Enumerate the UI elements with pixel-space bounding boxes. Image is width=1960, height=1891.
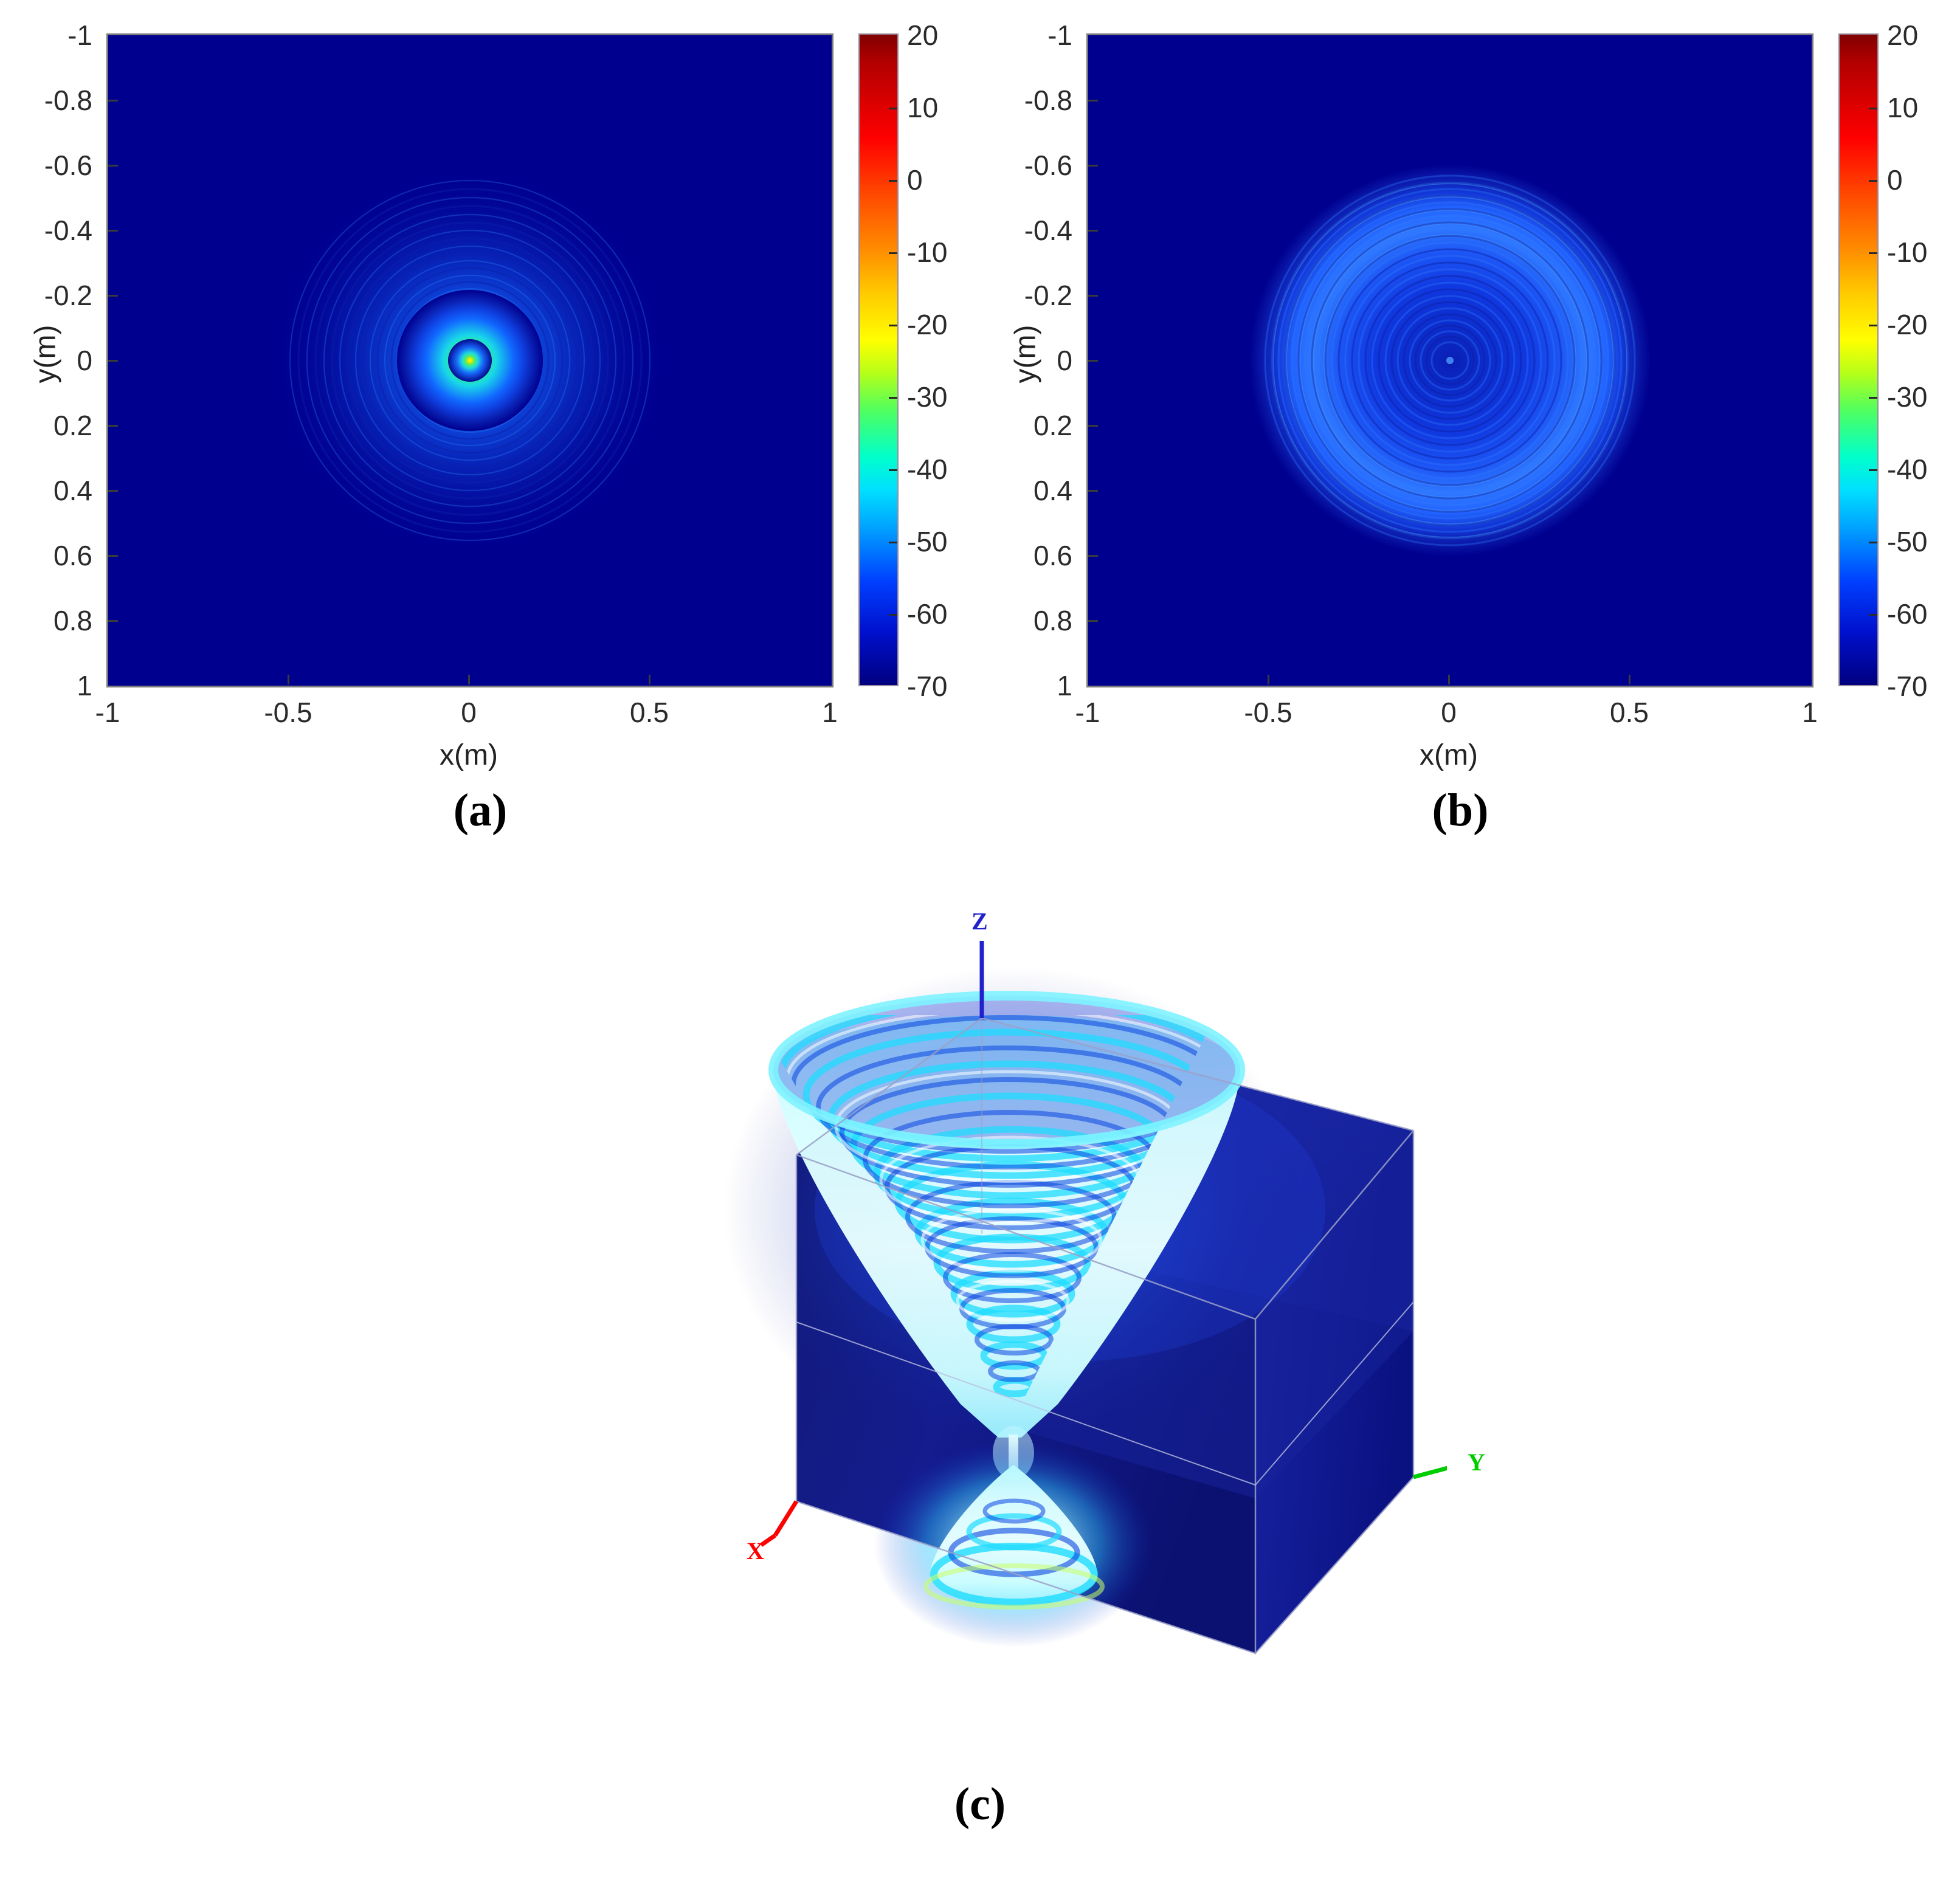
y-tick-label: 0.2: [53, 409, 92, 442]
y-tick-label: -0.6: [1024, 149, 1072, 182]
colorbar-tick-label: 20: [907, 19, 938, 52]
colorbar-tick-mark: [889, 614, 897, 616]
y-tick-mark: [108, 295, 118, 297]
colorbar-tick-label: 0: [1887, 164, 1903, 196]
axis-z-label: Z: [971, 907, 988, 935]
colorbar-gradient: [1840, 35, 1877, 685]
colorbar-tick-label: -10: [907, 236, 947, 269]
colorbar-tick-mark: [889, 397, 897, 399]
panel-a-heatmap: [108, 35, 832, 686]
y-tick-label: -1: [67, 19, 92, 52]
panel-b-plot-area: [1086, 33, 1813, 687]
panel-b-y-axis-label: y(m): [1009, 306, 1043, 403]
x-tick-mark: [649, 675, 650, 684]
y-tick-label: -0.4: [1024, 214, 1072, 247]
panel-b: -1 -0.8 -0.6 -0.4 -0.2 0 0.2 0.4 0.6 0.8…: [980, 0, 1960, 851]
colorbar-tick-mark: [1869, 325, 1877, 326]
colorbar-tick-label: -60: [1887, 598, 1927, 630]
y-tick-label: 1: [1057, 669, 1072, 702]
colorbar-tick-label: 0: [907, 164, 923, 196]
colorbar-tick-label: -40: [907, 453, 947, 486]
y-tick-label: 0.8: [53, 604, 92, 637]
x-tick-label: 1: [1802, 696, 1818, 729]
y-tick-mark: [108, 425, 118, 427]
y-tick-label: -0.8: [44, 84, 92, 117]
colorbar-tick-mark: [1869, 108, 1877, 109]
y-tick-label: 0.4: [53, 474, 92, 507]
axis-x-label: X: [747, 1537, 764, 1565]
panel-a-colorbar: [858, 33, 899, 686]
x-tick-label: 1: [822, 696, 838, 729]
x-tick-label: 0.5: [1610, 696, 1649, 729]
colorbar-tick-label: -50: [907, 525, 947, 558]
y-tick-mark: [1088, 100, 1098, 102]
y-tick-label: 0: [1057, 344, 1072, 377]
panel-b-heatmap: [1088, 35, 1812, 686]
x-tick-label: -0.5: [1244, 696, 1292, 729]
colorbar-tick-mark: [1869, 614, 1877, 616]
y-tick-label: 0.6: [1033, 539, 1072, 572]
colorbar-tick-mark: [889, 108, 897, 109]
colorbar-tick-mark: [1869, 252, 1877, 254]
x-tick-label: -1: [95, 696, 120, 729]
y-tick-mark: [1088, 490, 1098, 492]
panel-c-caption: (c): [954, 1778, 1006, 1831]
y-tick-mark: [108, 555, 118, 557]
y-tick-mark: [1088, 425, 1098, 427]
y-tick-mark: [1088, 555, 1098, 557]
y-tick-mark: [108, 490, 118, 492]
figure-root: -1 -0.8 -0.6 -0.4 -0.2 0 0.2 0.4 0.6 0.8…: [0, 0, 1960, 1891]
y-tick-mark: [108, 230, 118, 232]
colorbar-tick-mark: [889, 469, 897, 471]
y-tick-label: 1: [77, 669, 92, 702]
y-tick-label: -0.4: [44, 214, 92, 247]
colorbar-tick-mark: [889, 252, 897, 254]
x-axis-line: [761, 1501, 796, 1545]
panel-c: Z Y X (c): [0, 851, 1960, 1891]
y-tick-mark: [1088, 165, 1098, 167]
x-tick-label: -0.5: [264, 696, 312, 729]
colorbar-tick-label: -30: [1887, 381, 1927, 413]
colorbar-tick-label: -10: [1887, 236, 1927, 269]
panel-a-plot-area: [106, 33, 833, 687]
y-tick-mark: [1088, 230, 1098, 232]
y-tick-mark: [108, 620, 118, 622]
y-tick-mark: [108, 165, 118, 167]
x-tick-label: -1: [1075, 696, 1100, 729]
panel-a: -1 -0.8 -0.6 -0.4 -0.2 0 0.2 0.4 0.6 0.8…: [0, 0, 980, 851]
panel-a-x-axis-label: x(m): [440, 739, 498, 772]
colorbar-tick-mark: [1869, 180, 1877, 182]
y-tick-label: 0: [77, 344, 92, 377]
x-tick-label: 0: [1441, 696, 1457, 729]
y-tick-mark: [108, 100, 118, 102]
colorbar-tick-label: 10: [1887, 91, 1918, 124]
colorbar-tick-label: -40: [1887, 453, 1927, 486]
colorbar-tick-mark: [1869, 542, 1877, 543]
x-tick-mark: [1448, 675, 1450, 684]
y-tick-label: 0.6: [53, 539, 92, 572]
panel-c-volume: Z Y X: [535, 869, 1447, 1708]
colorbar-tick-label: 10: [907, 91, 938, 124]
x-tick-mark: [468, 675, 470, 684]
colorbar-tick-label: -70: [907, 670, 947, 703]
colorbar-tick-mark: [889, 542, 897, 543]
panel-b-caption: (b): [1432, 784, 1489, 837]
y-axis-line: [1413, 1464, 1447, 1477]
colorbar-tick-label: -60: [907, 598, 947, 630]
panel-c-3d-scene: [535, 869, 1447, 1708]
colorbar-tick-mark: [1869, 469, 1877, 471]
x-tick-mark: [1268, 675, 1269, 684]
colorbar-tick-label: -20: [907, 308, 947, 341]
panel-a-caption: (a): [454, 784, 508, 837]
colorbar-tick-label: -20: [1887, 308, 1927, 341]
panel-b-colorbar: [1838, 33, 1879, 686]
x-tick-label: 0: [461, 696, 477, 729]
y-tick-label: 0.8: [1033, 604, 1072, 637]
y-tick-label: -1: [1047, 19, 1072, 52]
y-tick-label: 0.4: [1033, 474, 1072, 507]
colorbar-tick-mark: [1869, 397, 1877, 399]
panels-row: -1 -0.8 -0.6 -0.4 -0.2 0 0.2 0.4 0.6 0.8…: [0, 0, 1960, 851]
colorbar-tick-mark: [889, 325, 897, 326]
y-tick-mark: [1088, 620, 1098, 622]
axis-y-label: Y: [1468, 1448, 1485, 1476]
colorbar-tick-label: 20: [1887, 19, 1918, 52]
x-tick-mark: [1629, 675, 1630, 684]
colorbar-tick-label: -70: [1887, 670, 1927, 703]
colorbar-gradient: [860, 35, 897, 685]
colorbar-tick-label: -30: [907, 381, 947, 413]
colorbar-tick-mark: [889, 180, 897, 182]
y-tick-mark: [1088, 360, 1098, 362]
y-tick-label: 0.2: [1033, 409, 1072, 442]
panel-a-y-axis-label: y(m): [29, 306, 63, 403]
colorbar-tick-label: -50: [1887, 525, 1927, 558]
y-tick-mark: [108, 360, 118, 362]
y-tick-label: -0.6: [44, 149, 92, 182]
x-tick-label: 0.5: [630, 696, 669, 729]
x-tick-mark: [288, 675, 289, 684]
panel-b-x-axis-label: x(m): [1420, 739, 1478, 772]
y-tick-mark: [1088, 295, 1098, 297]
y-tick-label: -0.8: [1024, 84, 1072, 117]
